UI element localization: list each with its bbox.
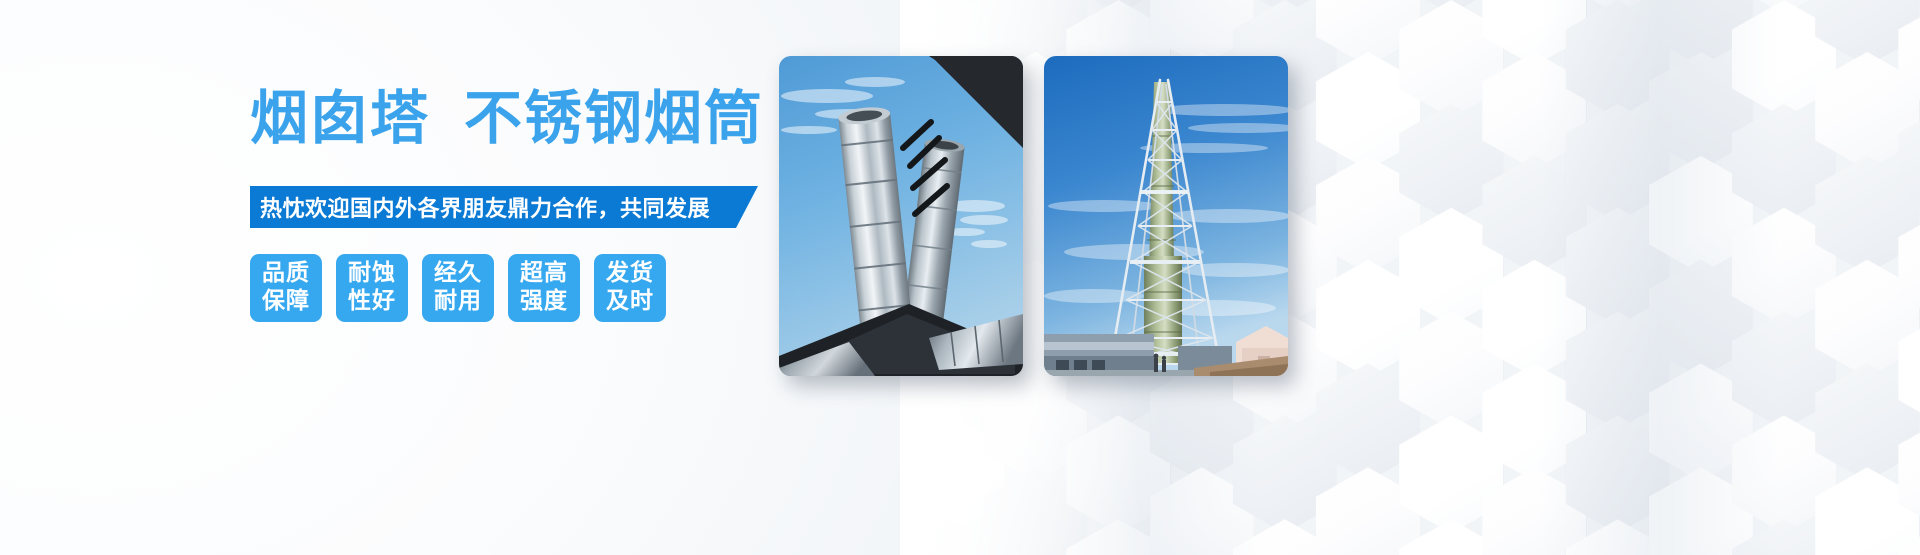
hexagon-tile — [1566, 415, 1670, 533]
hexagon-tile — [1898, 0, 1920, 118]
product-photo-chimney-tower[interactable] — [1044, 56, 1288, 376]
hexagon-tile — [1482, 0, 1586, 66]
hexagon-tile — [1316, 260, 1420, 378]
hexagon-tile — [1898, 208, 1920, 326]
hexagon-tile — [1649, 156, 1753, 274]
hexagon-tile — [1482, 52, 1586, 170]
hexagon-tile — [900, 363, 921, 481]
hexagon-tile — [1399, 208, 1503, 326]
hexagon-tile — [1066, 519, 1170, 555]
hexagon-tile — [1150, 467, 1254, 555]
hexagon-tile — [1732, 104, 1836, 222]
feature-chip[interactable]: 超高强度 — [508, 254, 580, 322]
hexagon-tile — [1732, 312, 1836, 430]
banner-text-block: 烟囱塔不锈钢烟筒 热忱欢迎国内外各界朋友鼎力合作，共同发展 品质保障耐蚀性好经久… — [250, 0, 870, 555]
hexagon-tile — [1815, 52, 1919, 170]
hexagon-tile — [1815, 156, 1919, 274]
promo-banner: 烟囱塔不锈钢烟筒 热忱欢迎国内外各界朋友鼎力合作，共同发展 品质保障耐蚀性好经久… — [0, 0, 1920, 555]
hexagon-tile — [1649, 0, 1753, 66]
hexagon-tile — [1732, 0, 1836, 14]
hexagon-tile — [1898, 312, 1920, 430]
hexagon-tile — [1898, 0, 1920, 14]
feature-chip[interactable]: 耐蚀性好 — [336, 254, 408, 322]
hexagon-tile — [1399, 0, 1503, 14]
hexagon-tile — [983, 467, 1087, 555]
headline-part-2: 不锈钢烟筒 — [464, 84, 764, 152]
hexagon-tile — [1233, 0, 1337, 14]
hexagon-tile — [900, 0, 1004, 14]
background-depth-band — [1540, 0, 1780, 555]
hexagon-tile — [1566, 104, 1670, 222]
hexagon-tile — [1566, 312, 1670, 430]
hexagon-tile — [900, 467, 921, 555]
hexagon-tile — [1482, 260, 1586, 378]
hexagon-tile — [1732, 208, 1836, 326]
hexagon-tile — [1649, 260, 1753, 378]
feature-chip-line-1: 耐蚀 — [348, 260, 396, 288]
slogan-text: 热忱欢迎国内外各界朋友鼎力合作，共同发展 — [260, 191, 710, 223]
hexagon-tile — [1399, 415, 1503, 533]
hexagon-tile — [1649, 363, 1753, 481]
hexagon-tile — [1066, 0, 1170, 14]
hexagon-tile — [1566, 208, 1670, 326]
chimney-tower-illustration — [1044, 56, 1288, 376]
feature-chip[interactable]: 经久耐用 — [422, 254, 494, 322]
hexagon-tile — [1482, 156, 1586, 274]
banner-headline: 烟囱塔不锈钢烟筒 — [250, 88, 764, 149]
hexagon-tile — [1815, 363, 1919, 481]
hexagon-tile — [1649, 52, 1753, 170]
hexagon-tile — [983, 363, 1087, 481]
hexagon-tile — [1399, 104, 1503, 222]
feature-chip-line-2: 耐用 — [434, 288, 482, 316]
feature-chip[interactable]: 发货及时 — [594, 254, 666, 322]
hexagon-tile — [1399, 312, 1503, 430]
slogan-ribbon-shape: 热忱欢迎国内外各界朋友鼎力合作，共同发展 — [250, 186, 758, 228]
hexagon-tile — [1815, 0, 1919, 66]
feature-chip-line-2: 强度 — [520, 288, 568, 316]
hexagon-tile — [1898, 415, 1920, 533]
feature-chip-line-1: 品质 — [262, 260, 310, 288]
hexagon-tile — [1233, 519, 1337, 555]
feature-chip[interactable]: 品质保障 — [250, 254, 322, 322]
feature-chip-line-1: 经久 — [434, 260, 482, 288]
hexagon-tile — [1566, 0, 1670, 14]
hexagon-tile — [1732, 0, 1836, 118]
hexagon-tile — [1898, 104, 1920, 222]
hexagon-tile — [1482, 363, 1586, 481]
slogan-ribbon: 热忱欢迎国内外各界朋友鼎力合作，共同发展 — [250, 186, 758, 228]
hexagon-tile — [1649, 467, 1753, 555]
hexagon-tile — [900, 519, 1004, 555]
headline-part-1: 烟囱塔 — [250, 84, 430, 152]
hexagon-tile — [1399, 519, 1503, 555]
feature-chip-list: 品质保障耐蚀性好经久耐用超高强度发货及时 — [250, 254, 666, 322]
feature-chip-line-2: 及时 — [606, 288, 654, 316]
hexagon-tile — [1399, 0, 1503, 118]
hexagon-tile — [1898, 519, 1920, 555]
hexagon-tile — [1316, 0, 1420, 66]
hexagon-tile — [1316, 467, 1420, 555]
feature-chip-line-1: 超高 — [520, 260, 568, 288]
hexagon-tile — [1233, 415, 1337, 533]
hexagon-tile — [1316, 363, 1420, 481]
hexagon-tile — [1316, 52, 1420, 170]
hexagon-tile — [1815, 260, 1919, 378]
feature-chip-line-1: 发货 — [606, 260, 654, 288]
hexagon-tile — [1732, 519, 1836, 555]
hexagon-tile — [1815, 467, 1919, 555]
feature-chip-line-2: 保障 — [262, 288, 310, 316]
feature-chip-line-2: 性好 — [348, 288, 396, 316]
hexagon-tile — [1732, 415, 1836, 533]
hexagon-tile — [1482, 467, 1586, 555]
hexagon-tile — [1566, 519, 1670, 555]
hexagon-tile — [1066, 415, 1170, 533]
hexagon-tile — [1566, 0, 1670, 118]
hexagon-tile — [1150, 363, 1254, 481]
hexagon-tile — [900, 415, 1004, 533]
hexagon-tile — [1316, 156, 1420, 274]
